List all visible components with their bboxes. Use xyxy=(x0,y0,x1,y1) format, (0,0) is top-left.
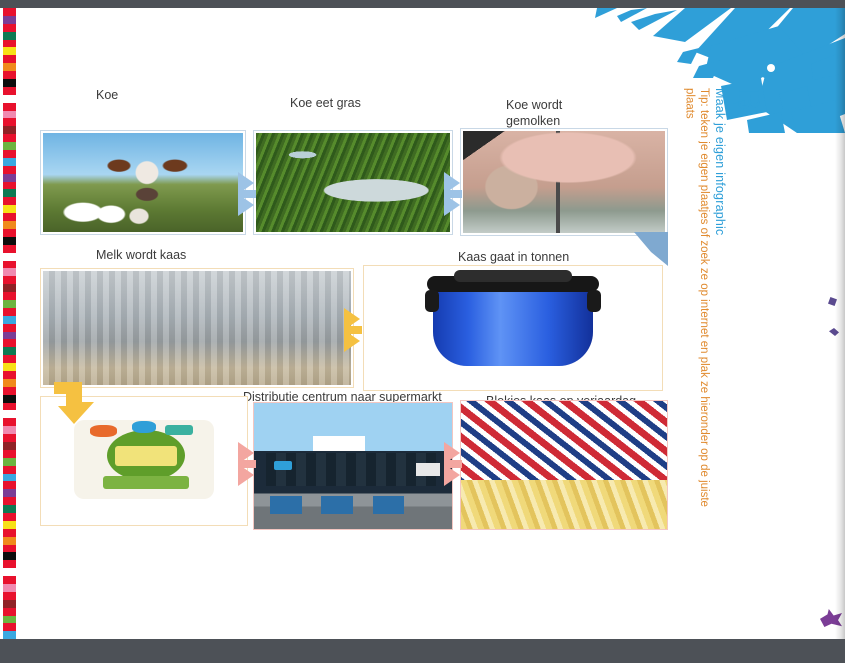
app-window: B. Maak je eigen infographic Tip: teken … xyxy=(0,0,845,663)
color-swatch xyxy=(3,339,16,347)
caption-row2-cell1: Melk wordt kaas xyxy=(96,248,186,264)
document-page: B. Maak je eigen infographic Tip: teken … xyxy=(0,8,845,639)
color-swatch xyxy=(3,434,16,442)
color-swatch xyxy=(3,481,16,489)
color-swatch xyxy=(3,79,16,87)
photo-cheese-factory xyxy=(40,268,354,388)
connector-arrow-row3-a xyxy=(238,442,260,486)
color-swatch xyxy=(3,16,16,24)
color-swatch xyxy=(3,292,16,300)
color-swatch xyxy=(3,505,16,513)
color-swatch xyxy=(3,474,16,482)
color-swatch xyxy=(3,213,16,221)
color-swatch xyxy=(3,150,16,158)
color-swatch xyxy=(3,276,16,284)
connector-arrow-row1-a xyxy=(238,172,260,216)
purple-splash-bottom-right xyxy=(820,609,842,627)
color-swatch xyxy=(3,158,16,166)
color-swatch xyxy=(3,261,16,269)
color-swatch xyxy=(3,47,16,55)
color-swatch xyxy=(3,8,16,16)
window-chrome-top xyxy=(0,0,845,8)
caption-row1-cell1: Koe xyxy=(96,88,118,104)
color-swatch xyxy=(3,403,16,411)
color-swatch xyxy=(3,126,16,134)
color-swatch xyxy=(3,347,16,355)
photo-blue-barrel xyxy=(363,265,663,391)
color-swatch xyxy=(3,466,16,474)
color-swatch xyxy=(3,568,16,576)
color-swatch xyxy=(3,166,16,174)
photo-cow-herd xyxy=(40,130,246,235)
color-swatch xyxy=(3,442,16,450)
color-swatch xyxy=(3,497,16,505)
window-chrome-bottom xyxy=(0,639,845,663)
color-swatch xyxy=(3,521,16,529)
connector-arrow-row3-b xyxy=(444,442,466,486)
caption-row1-cell2: Koe eet gras xyxy=(290,96,361,112)
color-swatch xyxy=(3,332,16,340)
connector-arrow-row1-b xyxy=(444,172,466,216)
color-swatch xyxy=(3,410,16,418)
purple-accent-mark-1 xyxy=(828,297,837,306)
color-swatch xyxy=(3,245,16,253)
color-swatch xyxy=(3,545,16,553)
color-swatch xyxy=(3,631,16,639)
color-swatch xyxy=(3,592,16,600)
caption-row2-cell2: Kaas gaat in tonnen xyxy=(458,250,569,266)
section-tip-text: Tip: teken je eigen plaatjes of zoek ze … xyxy=(683,88,711,540)
photo-distribution-center xyxy=(253,402,453,530)
color-swatch xyxy=(3,189,16,197)
color-swatch xyxy=(3,537,16,545)
color-swatch xyxy=(3,513,16,521)
color-swatch xyxy=(3,197,16,205)
color-swatch xyxy=(3,229,16,237)
color-swatch xyxy=(3,111,16,119)
color-swatch xyxy=(3,55,16,63)
photo-cow-milking xyxy=(460,128,668,236)
color-swatch xyxy=(3,395,16,403)
color-swatch xyxy=(3,253,16,261)
color-swatch xyxy=(3,371,16,379)
color-swatch xyxy=(3,174,16,182)
color-swatch xyxy=(3,221,16,229)
color-swatch xyxy=(3,237,16,245)
color-swatch xyxy=(3,387,16,395)
color-swatch xyxy=(3,529,16,537)
color-swatch xyxy=(3,142,16,150)
section-title: Maak je eigen infographic xyxy=(712,88,727,235)
color-swatch xyxy=(3,284,16,292)
color-swatch xyxy=(3,268,16,276)
color-swatch xyxy=(3,418,16,426)
color-swatch xyxy=(3,576,16,584)
color-swatch xyxy=(3,95,16,103)
color-swatch xyxy=(3,205,16,213)
color-swatch xyxy=(3,489,16,497)
color-swatch xyxy=(3,616,16,624)
section-letter: B. xyxy=(729,88,767,119)
color-swatch xyxy=(3,363,16,371)
infographic-board: Koe Koe eet gras Koe wordt gemolken xyxy=(38,80,678,550)
connector-arrow-down-to-row3 xyxy=(52,380,98,431)
color-swatch xyxy=(3,584,16,592)
color-swatch xyxy=(3,118,16,126)
color-swatch xyxy=(3,308,16,316)
color-swatch xyxy=(3,608,16,616)
color-swatch xyxy=(3,426,16,434)
color-swatch xyxy=(3,71,16,79)
color-swatch-strip xyxy=(3,8,16,639)
photo-cheese-cubes-party xyxy=(460,400,668,530)
color-swatch xyxy=(3,560,16,568)
color-swatch xyxy=(3,324,16,332)
caption-row1-cell3: Koe wordt gemolken xyxy=(506,98,562,129)
color-swatch xyxy=(3,40,16,48)
section-heading-rail: B. Maak je eigen infographic Tip: teken … xyxy=(657,88,767,548)
color-swatch xyxy=(3,355,16,363)
color-swatch xyxy=(3,63,16,71)
color-swatch xyxy=(3,379,16,387)
photo-grass-field xyxy=(253,130,453,235)
color-swatch xyxy=(3,316,16,324)
color-swatch xyxy=(3,182,16,190)
color-swatch xyxy=(3,134,16,142)
color-swatch xyxy=(3,32,16,40)
color-swatch xyxy=(3,300,16,308)
color-swatch xyxy=(3,450,16,458)
purple-accent-mark-2 xyxy=(829,328,839,336)
color-swatch xyxy=(3,600,16,608)
connector-arrow-row2 xyxy=(344,308,366,352)
color-swatch xyxy=(3,87,16,95)
color-swatch xyxy=(3,458,16,466)
color-swatch xyxy=(3,623,16,631)
color-swatch xyxy=(3,552,16,560)
color-swatch xyxy=(3,103,16,111)
color-swatch xyxy=(3,24,16,32)
